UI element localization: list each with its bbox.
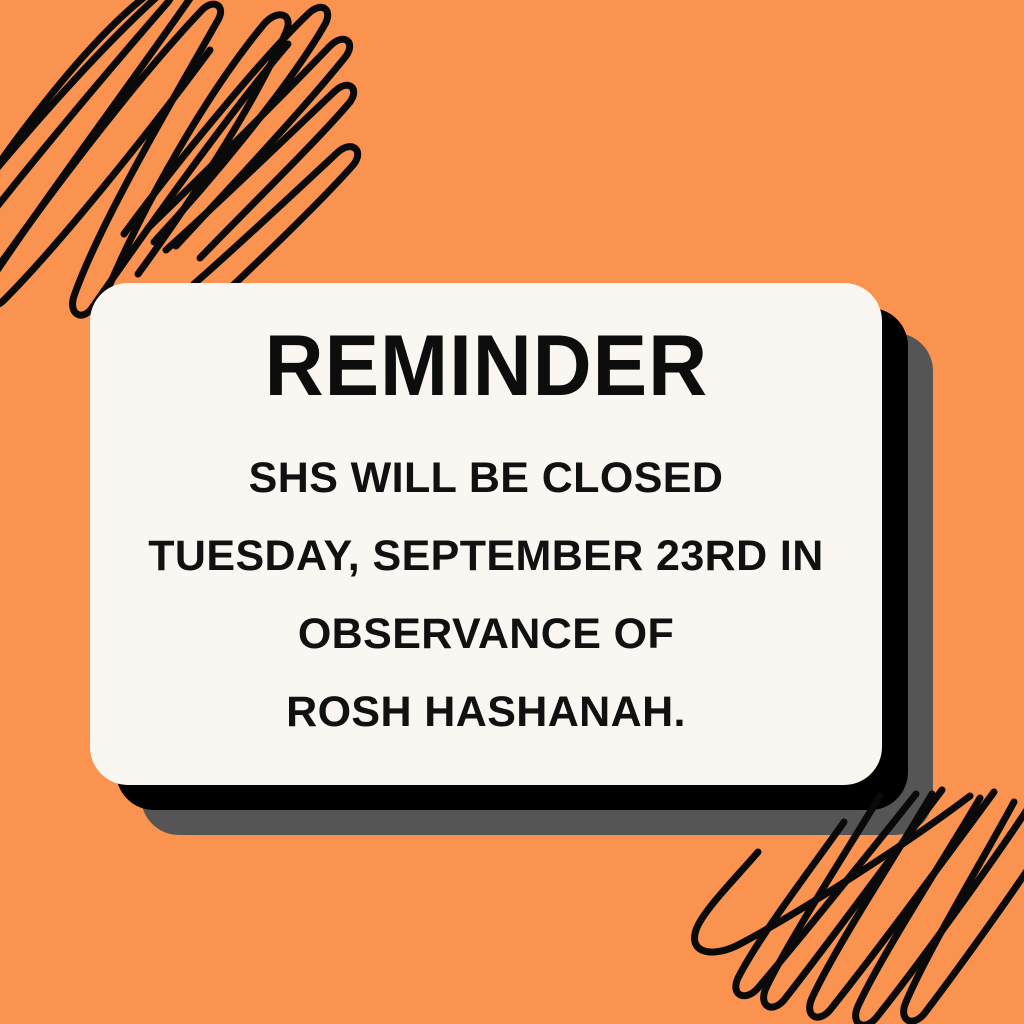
body-line: OBSERVANCE OF [298, 595, 674, 673]
announcement-card: REMINDER SHS WILL BE CLOSED TUESDAY, SEP… [90, 283, 882, 785]
card-heading: REMINDER [264, 323, 707, 409]
body-line: SHS WILL BE CLOSED [249, 439, 724, 517]
body-line: TUESDAY, SEPTEMBER 23RD IN [148, 517, 823, 595]
card-stack: REMINDER SHS WILL BE CLOSED TUESDAY, SEP… [90, 283, 882, 785]
card-body-text: SHS WILL BE CLOSED TUESDAY, SEPTEMBER 23… [124, 409, 848, 751]
reminder-poster: REMINDER SHS WILL BE CLOSED TUESDAY, SEP… [0, 0, 1024, 1024]
scribble-bottom-right-icon [684, 812, 1024, 1024]
body-line: ROSH HASHANAH. [286, 673, 686, 751]
